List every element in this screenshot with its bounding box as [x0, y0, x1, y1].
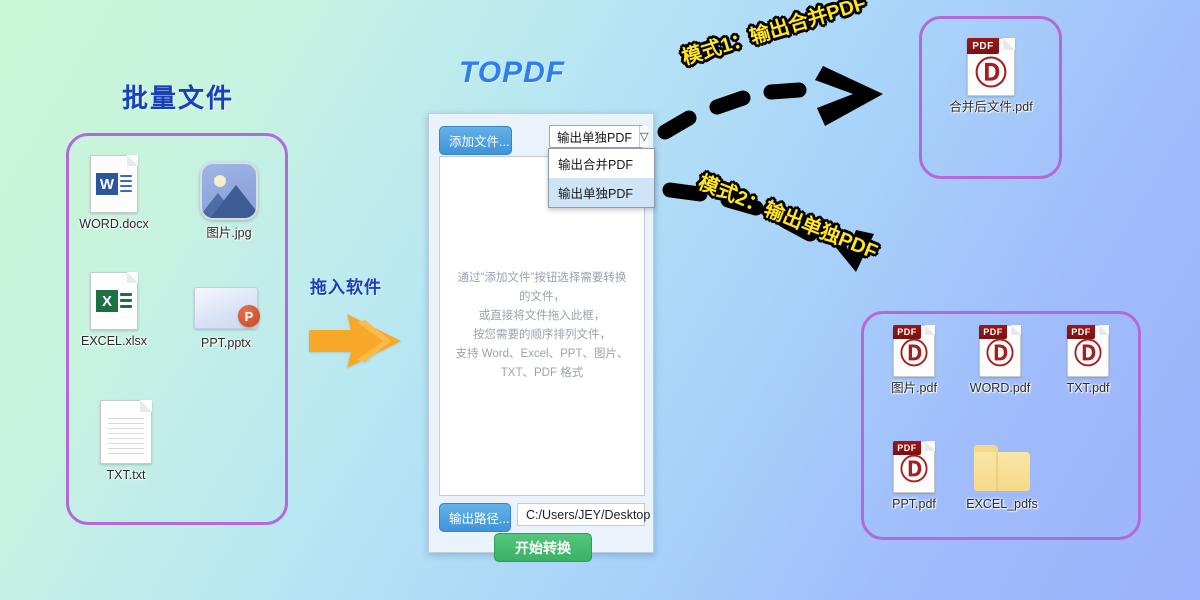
folder-icon — [974, 445, 1030, 491]
dropzone-hint-text: 通过“添加文件”按钮选择需要转换的文件， 或直接将文件拖入此框， 按您需要的顺序… — [452, 269, 632, 383]
text-file-icon — [100, 400, 152, 464]
start-convert-button[interactable]: 开始转换 — [494, 533, 592, 562]
pdf-file-icon: PDF Ⓓ — [979, 325, 1021, 377]
file-label: TXT.txt — [80, 468, 172, 482]
chevron-down-icon[interactable]: ▽ — [639, 126, 648, 147]
app-title: TOPDF — [459, 56, 565, 90]
word-file-icon: W — [90, 155, 138, 213]
image-file-icon — [200, 162, 258, 220]
add-files-button[interactable]: 添加文件... — [439, 126, 512, 155]
file-item-txt-pdf[interactable]: PDF Ⓓ TXT.pdf — [1042, 325, 1134, 395]
output-mode-value: 输出单独PDF — [550, 126, 639, 147]
file-item-excel[interactable]: X EXCEL.xlsx — [68, 272, 160, 348]
file-label: WORD.docx — [68, 217, 160, 231]
file-item-excel-pdfs-folder[interactable]: EXCEL_pdfs — [956, 445, 1048, 511]
drag-step-label: 拖入软件 — [310, 273, 382, 298]
pdf-file-icon: PDF Ⓓ — [1067, 325, 1109, 377]
pdf-file-icon: PDF Ⓓ — [893, 441, 935, 493]
orange-right-arrow-icon — [305, 310, 405, 372]
file-item-txt[interactable]: TXT.txt — [80, 400, 172, 482]
file-item-ppt[interactable]: P PPT.pptx — [180, 287, 272, 350]
powerpoint-file-icon: P — [194, 287, 258, 329]
excel-file-icon: X — [90, 272, 138, 330]
pdf-file-icon: PDF Ⓓ — [893, 325, 935, 377]
file-label: PPT.pdf — [868, 497, 960, 511]
file-item-ppt-pdf[interactable]: PDF Ⓓ PPT.pdf — [868, 441, 960, 511]
output-path-button[interactable]: 输出路径... — [439, 503, 511, 532]
output-path-field[interactable]: C:/Users/JEY/Desktop — [517, 503, 645, 526]
batch-files-heading: 批量文件 — [122, 78, 234, 115]
file-label: TXT.pdf — [1042, 381, 1134, 395]
file-label: WORD.pdf — [954, 381, 1046, 395]
dashed-arrow-up-right-icon — [655, 60, 895, 140]
file-item-merged-pdf[interactable]: PDF Ⓓ 合并后文件.pdf — [945, 38, 1037, 114]
output-mode-dropdown[interactable]: 输出合并PDF 输出单独PDF — [548, 148, 655, 208]
file-label: PPT.pptx — [180, 336, 272, 350]
file-label: EXCEL.xlsx — [68, 334, 160, 348]
app-window: 添加文件... 输出单独PDF ▽ 输出合并PDF 输出单独PDF 通过“添加文… — [428, 113, 654, 553]
dropdown-option-separate[interactable]: 输出单独PDF — [549, 178, 654, 207]
file-label: 图片.jpg — [183, 226, 275, 240]
file-item-image[interactable]: 图片.jpg — [183, 162, 275, 240]
file-item-word[interactable]: W WORD.docx — [68, 155, 160, 231]
output-mode-select[interactable]: 输出单独PDF ▽ — [549, 125, 643, 148]
file-label: 图片.pdf — [868, 381, 960, 395]
file-item-word-pdf[interactable]: PDF Ⓓ WORD.pdf — [954, 325, 1046, 395]
file-label: 合并后文件.pdf — [945, 100, 1037, 114]
pdf-file-icon: PDF Ⓓ — [967, 38, 1015, 96]
dropdown-option-merged[interactable]: 输出合并PDF — [549, 149, 654, 178]
file-label: EXCEL_pdfs — [956, 497, 1048, 511]
file-item-image-pdf[interactable]: PDF Ⓓ 图片.pdf — [868, 325, 960, 395]
